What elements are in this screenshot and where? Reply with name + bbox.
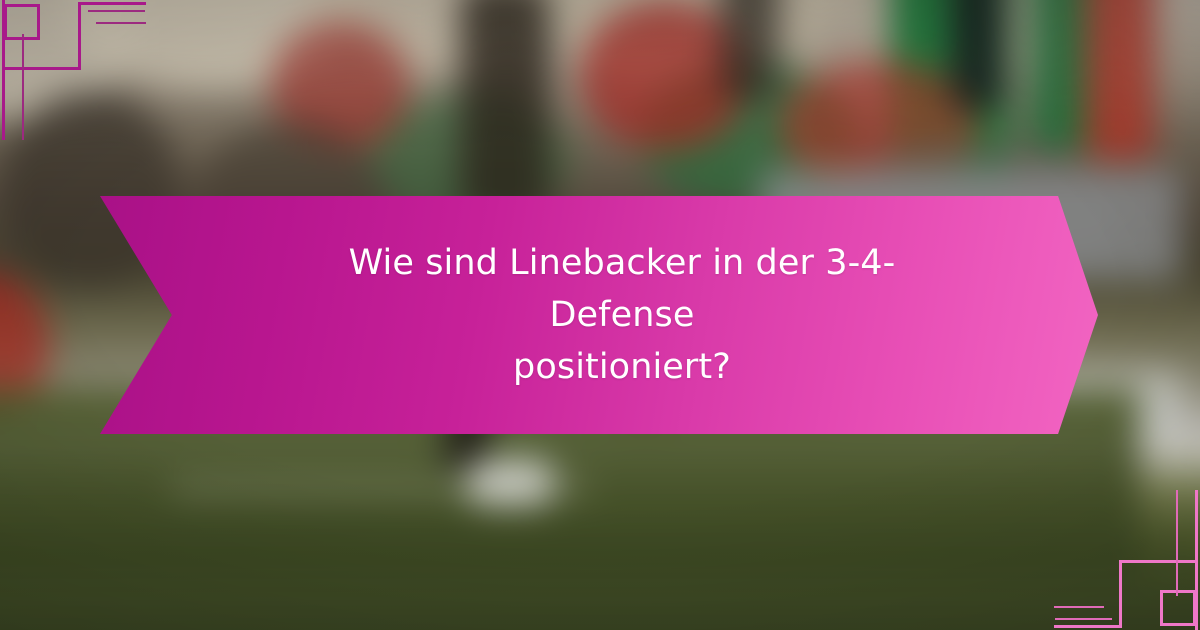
- corner-bracket-vertical: [1119, 560, 1122, 628]
- corner-accent-line-1: [1055, 618, 1112, 620]
- corner-outer-vertical-line: [2, 0, 5, 140]
- corner-accent-line-2: [96, 22, 146, 24]
- banner-canvas: Wie sind Linebacker in der 3-4-Defense p…: [0, 0, 1200, 630]
- headline-text: Wie sind Linebacker in der 3-4-Defense p…: [249, 237, 949, 393]
- corner-bracket-base: [2, 67, 81, 70]
- corner-bracket-vertical: [78, 2, 81, 70]
- corner-square-icon: [1160, 590, 1196, 626]
- headline-ribbon: Wie sind Linebacker in der 3-4-Defense p…: [100, 196, 1098, 434]
- corner-inner-vertical-line: [1176, 490, 1178, 596]
- corner-bracket-horizontal: [1054, 625, 1122, 628]
- corner-inner-vertical-line: [22, 34, 24, 140]
- corner-bracket-bottom-right: [1000, 460, 1200, 630]
- corner-bracket-horizontal: [78, 2, 146, 5]
- headline-line-2: positioniert?: [513, 347, 731, 387]
- corner-bracket-base: [1119, 560, 1198, 563]
- corner-accent-line-2: [1054, 606, 1104, 608]
- corner-bracket-top-left: [0, 0, 200, 170]
- headline-line-1: Wie sind Linebacker in der 3-4-Defense: [349, 243, 896, 335]
- corner-accent-line-1: [88, 10, 145, 12]
